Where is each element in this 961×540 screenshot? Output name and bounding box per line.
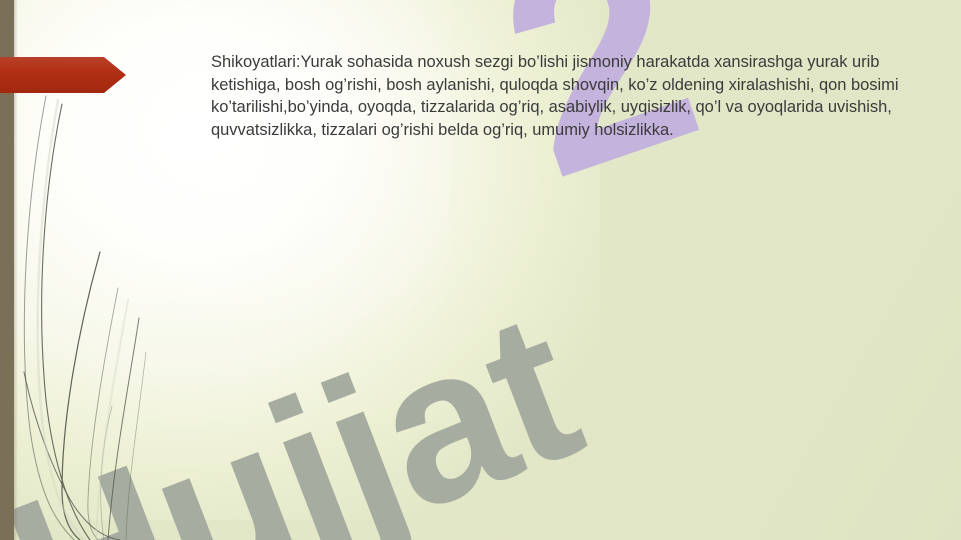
red-arrow-banner	[0, 57, 126, 93]
slide-canvas: 2 Hujjat Shikoyatlari:Yurak sohasida nox…	[0, 0, 961, 540]
slide-body-text: Shikoyatlari:Yurak sohasida noxush sezgi…	[211, 51, 911, 141]
body-paragraph: Shikoyatlari:Yurak sohasida noxush sezgi…	[211, 51, 911, 141]
